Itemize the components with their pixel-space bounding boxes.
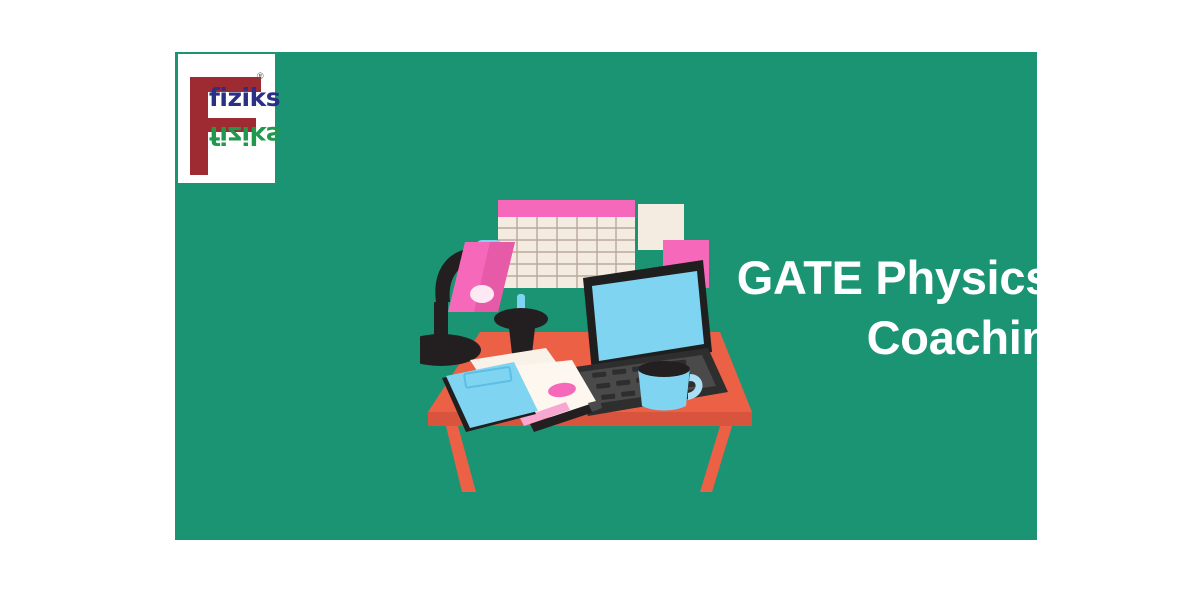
fiziks-logo[interactable]: fiziks fiziks ® bbox=[178, 54, 275, 183]
page-title: GATE Physics Online Coaching bbox=[715, 248, 1037, 368]
registered-trademark-icon: ® bbox=[257, 71, 264, 81]
promo-banner: GATE Physics Online Coaching visit : www… bbox=[175, 52, 1037, 540]
logo-inner: fiziks fiziks ® bbox=[184, 61, 269, 176]
logo-wordmark-bottom-mirrored: fiziks bbox=[209, 123, 280, 148]
headline-line-2: Coaching bbox=[715, 308, 1037, 368]
study-desk-illustration bbox=[420, 182, 760, 512]
logo-wordmark-top: fiziks bbox=[209, 85, 280, 110]
headline-line-1: GATE Physics Online bbox=[715, 248, 1037, 308]
